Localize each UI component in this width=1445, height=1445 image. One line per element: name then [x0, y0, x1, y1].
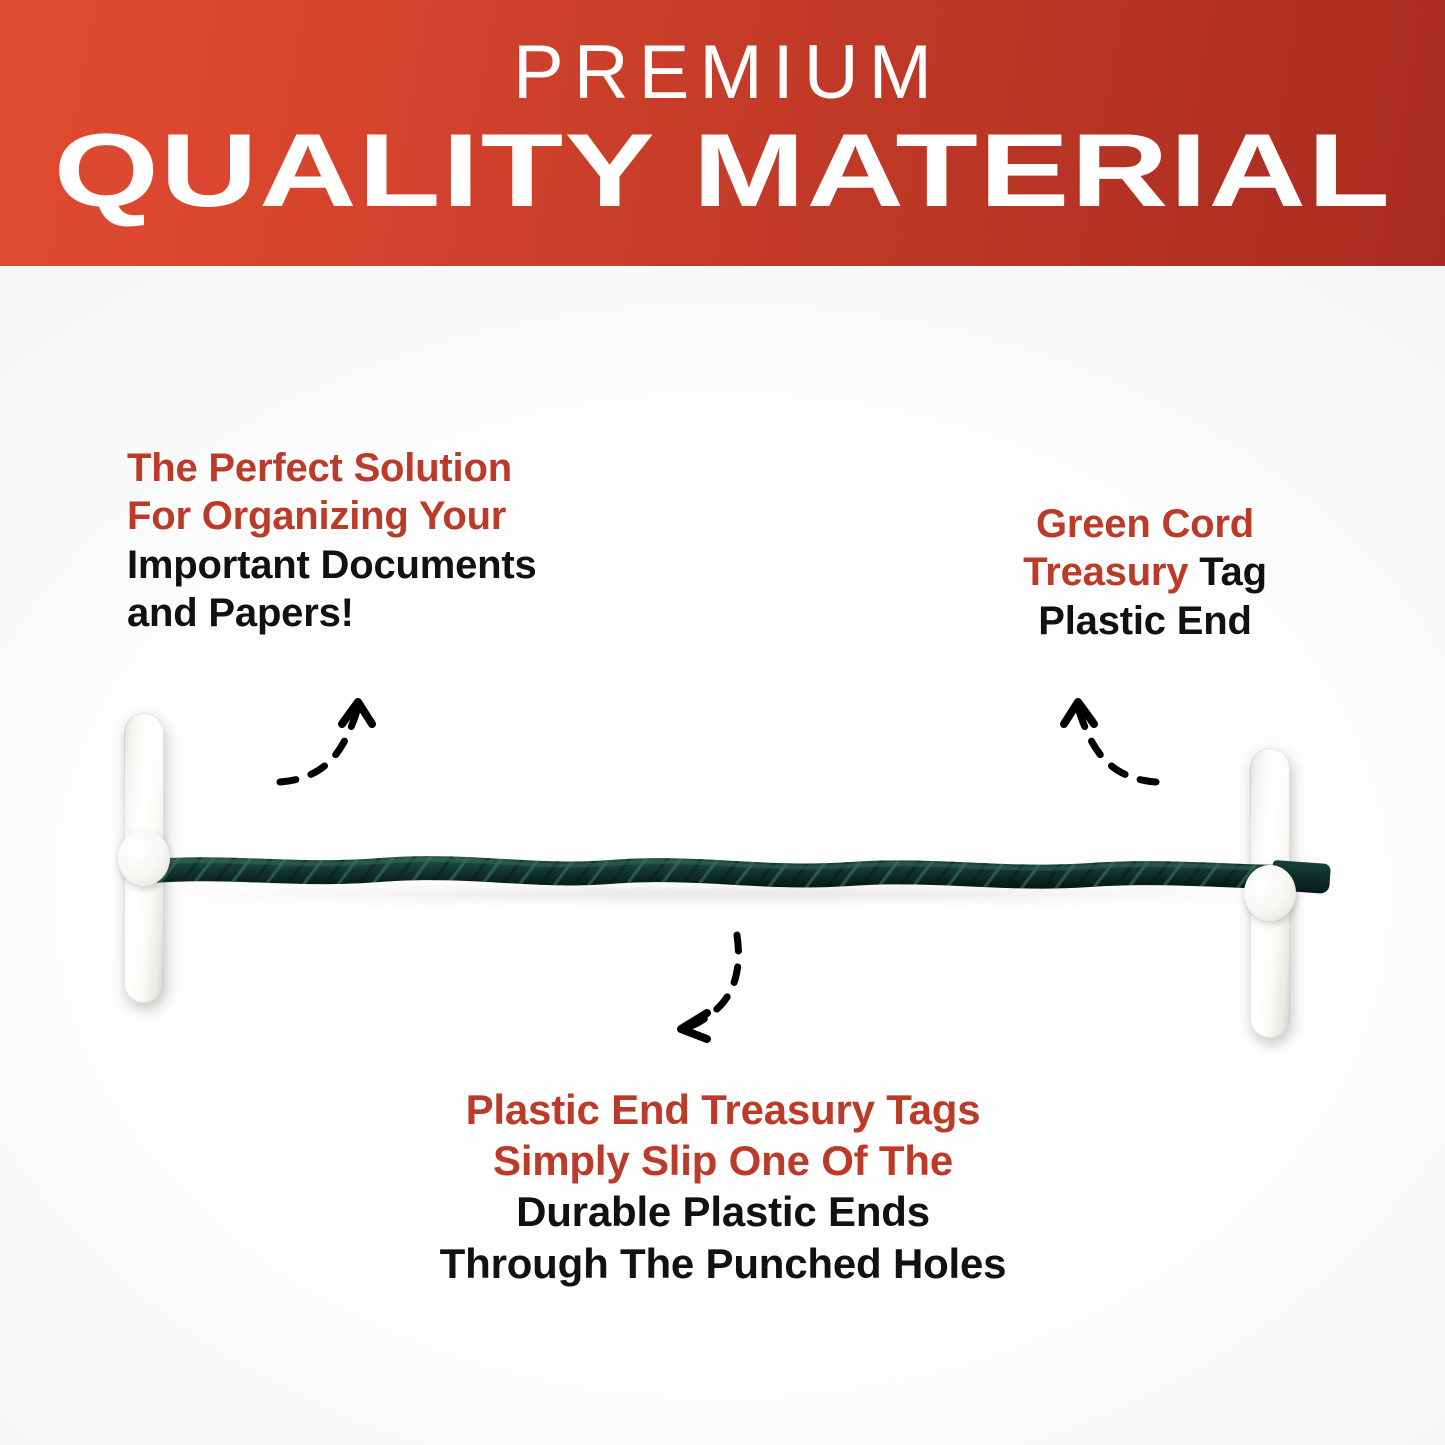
callout-left-line-1: The Perfect Solution [127, 444, 537, 492]
callout-bottom-line-1: Plastic End Treasury Tags [243, 1084, 1203, 1135]
plastic-end-usage-callout: Plastic End Treasury Tags Simply Slip On… [243, 1084, 1203, 1289]
green-twisted-cord [140, 838, 1320, 898]
callout-right-line-2-red: Treasury [1023, 550, 1188, 594]
callout-right-line-2-black: Tag [1188, 550, 1266, 594]
curved-dashed-arrow-down-left-icon [655, 925, 785, 1050]
callout-right-line-3: Plastic End [935, 597, 1355, 645]
plastic-t-end-right-collar [1244, 865, 1296, 921]
banner-title-line-1: PREMIUM [503, 37, 942, 109]
curved-dashed-arrow-up-left-icon [1048, 690, 1168, 805]
perfect-solution-callout: The Perfect Solution For Organizing Your… [127, 444, 537, 638]
banner-title-line-2: QUALITY MATERIAL [54, 119, 1392, 223]
callout-left-line-4: and Papers! [127, 589, 537, 637]
callout-bottom-line-4: Through The Punched Holes [243, 1238, 1203, 1289]
callout-bottom-line-3: Durable Plastic Ends [243, 1186, 1203, 1237]
callout-bottom-line-2: Simply Slip One Of The [243, 1135, 1203, 1186]
header-banner: PREMIUM QUALITY MATERIAL [0, 0, 1445, 266]
plastic-t-end-left-collar [118, 830, 170, 886]
curved-dashed-arrow-up-right-icon [268, 690, 388, 805]
callout-right-line-2: Treasury Tag [935, 548, 1355, 596]
callout-left-line-2: For Organizing Your [127, 492, 537, 540]
product-infographic-poster: PREMIUM QUALITY MATERIAL The Perfect Sol… [0, 0, 1445, 1445]
callout-left-line-3: Important Documents [127, 541, 537, 589]
callout-right-line-1: Green Cord [935, 500, 1355, 548]
green-cord-callout: Green Cord Treasury Tag Plastic End [935, 500, 1355, 645]
